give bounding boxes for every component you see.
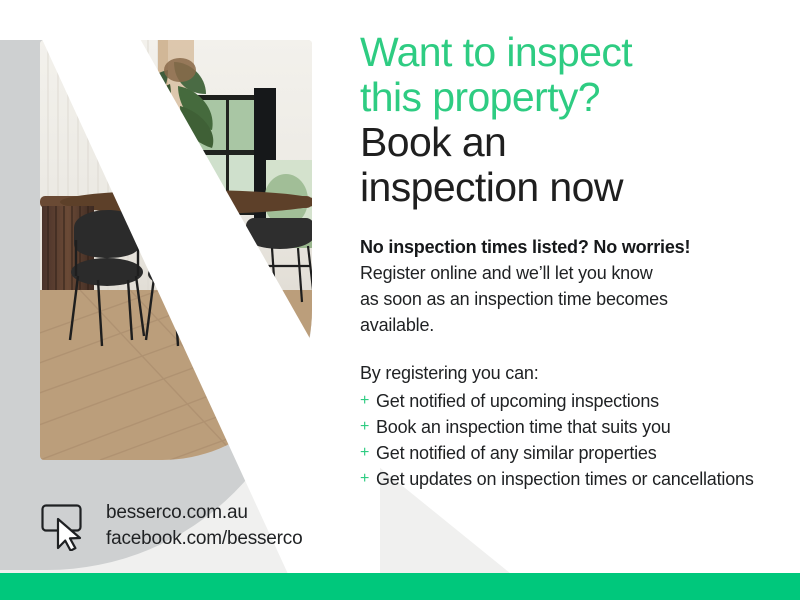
lede-block: No inspection times listed? No worries! … — [360, 234, 780, 338]
headline-line-1: Want to inspect — [360, 30, 780, 75]
list-item: + Get updates on inspection times or can… — [360, 466, 780, 492]
property-photo — [40, 40, 312, 460]
benefits-intro: By registering you can: — [360, 360, 780, 386]
list-item-label: Get notified of any similar properties — [376, 443, 657, 463]
lede-line-3: available. — [360, 312, 780, 338]
list-item: + Get notified of upcoming inspections — [360, 388, 780, 414]
website-link[interactable]: besserco.com.au — [106, 500, 302, 526]
headline-line-2: this property? — [360, 75, 780, 120]
plus-icon: + — [360, 440, 369, 466]
headline-line-4: inspection now — [360, 165, 780, 210]
page-title: Want to inspect this property? Book an i… — [360, 30, 780, 210]
cursor-click-icon — [40, 501, 92, 551]
list-item-label: Book an inspection time that suits you — [376, 417, 671, 437]
footer-links: besserco.com.au facebook.com/besserco — [106, 500, 302, 552]
list-item: + Get notified of any similar properties — [360, 440, 780, 466]
plus-icon: + — [360, 466, 369, 492]
content-column: Want to inspect this property? Book an i… — [360, 30, 780, 492]
flyer-canvas: Want to inspect this property? Book an i… — [0, 0, 800, 600]
footer-contact: besserco.com.au facebook.com/besserco — [40, 500, 302, 552]
plus-icon: + — [360, 414, 369, 440]
lede-line-1: Register online and we’ll let you know — [360, 260, 780, 286]
list-item: + Book an inspection time that suits you — [360, 414, 780, 440]
plus-icon: + — [360, 388, 369, 414]
list-item-label: Get notified of upcoming inspections — [376, 391, 659, 411]
benefits-list: + Get notified of upcoming inspections +… — [360, 388, 780, 492]
facebook-link[interactable]: facebook.com/besserco — [106, 526, 302, 552]
bottom-accent-bar — [0, 573, 800, 600]
lede-line-2: as soon as an inspection time becomes — [360, 286, 780, 312]
benefits-block: By registering you can: + Get notified o… — [360, 360, 780, 492]
list-item-label: Get updates on inspection times or cance… — [376, 469, 754, 489]
lede-heading: No inspection times listed? No worries! — [360, 234, 780, 260]
headline-line-3: Book an — [360, 120, 780, 165]
